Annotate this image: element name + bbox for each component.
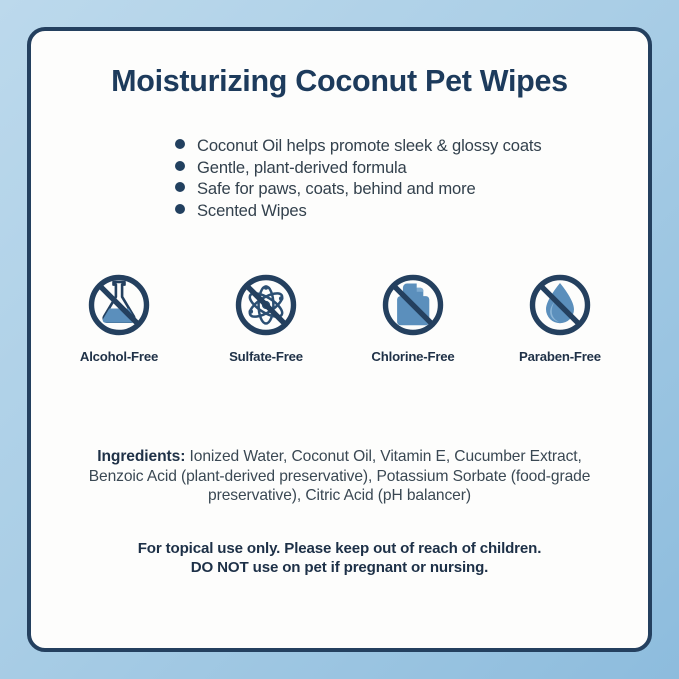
bullet-dot-icon: [175, 204, 185, 214]
list-item: Gentle, plant-derived formula: [175, 157, 614, 179]
no-flask-icon: [83, 269, 155, 341]
bullet-dot-icon: [175, 182, 185, 192]
free-from-item-paraben: Paraben-Free: [506, 269, 614, 364]
list-item: Coconut Oil helps promote sleek & glossy…: [175, 135, 614, 157]
feature-label: Safe for paws, coats, behind and more: [197, 178, 476, 200]
warning-line-1: For topical use only. Please keep out of…: [65, 539, 614, 558]
bullet-dot-icon: [175, 139, 185, 149]
free-from-label: Paraben-Free: [506, 349, 614, 364]
no-jug-icon: [377, 269, 449, 341]
ingredients-label: Ingredients:: [97, 448, 185, 465]
no-droplet-icon: [524, 269, 596, 341]
free-from-label: Chlorine-Free: [359, 349, 467, 364]
feature-label: Scented Wipes: [197, 200, 307, 222]
page-title: Moisturizing Coconut Pet Wipes: [65, 31, 614, 99]
free-from-item-chlorine: Chlorine-Free: [359, 269, 467, 364]
feature-label: Coconut Oil helps promote sleek & glossy…: [197, 135, 542, 157]
list-item: Safe for paws, coats, behind and more: [175, 178, 614, 200]
free-from-icon-row: Alcohol-Free: [65, 269, 614, 364]
ingredients-text: Ingredients: Ionized Water, Coconut Oil,…: [65, 447, 614, 506]
feature-list: Coconut Oil helps promote sleek & glossy…: [65, 99, 614, 221]
no-atom-icon: [230, 269, 302, 341]
warning-text: For topical use only. Please keep out of…: [65, 539, 614, 577]
warning-line-2: DO NOT use on pet if pregnant or nursing…: [65, 558, 614, 577]
free-from-item-sulfate: Sulfate-Free: [212, 269, 320, 364]
bullet-dot-icon: [175, 161, 185, 171]
content-panel: Moisturizing Coconut Pet Wipes Coconut O…: [27, 27, 652, 652]
free-from-label: Sulfate-Free: [212, 349, 320, 364]
free-from-item-alcohol: Alcohol-Free: [65, 269, 173, 364]
free-from-label: Alcohol-Free: [65, 349, 173, 364]
list-item: Scented Wipes: [175, 200, 614, 222]
product-info-graphic: Moisturizing Coconut Pet Wipes Coconut O…: [0, 0, 679, 679]
feature-label: Gentle, plant-derived formula: [197, 157, 407, 179]
